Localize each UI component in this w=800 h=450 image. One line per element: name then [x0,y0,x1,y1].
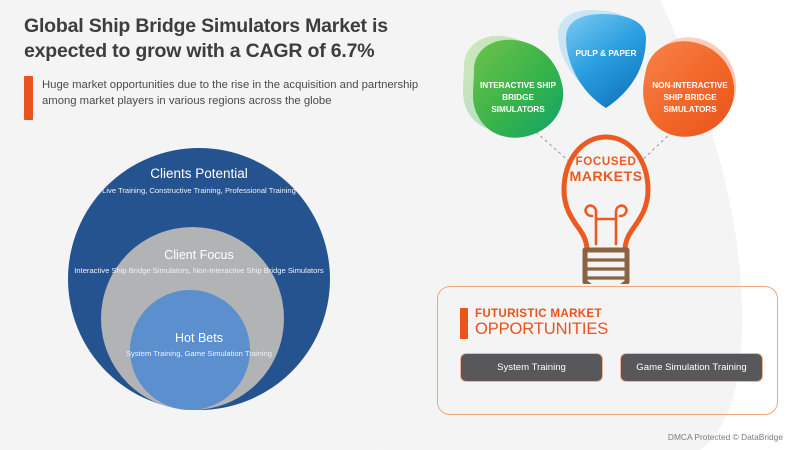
circle-items-inner: System Training, Game Simulation Trainin… [68,349,330,359]
petal-pulp-and-paper[interactable]: PULP & PAPER [566,14,646,108]
petal-label-blue: PULP & PAPER [575,48,636,58]
circle-items-middle: Interactive Ship Bridge Simulators, Non-… [68,266,330,276]
bulb-label-line2: MARKETS [570,169,643,185]
circle-label-hot-bets: Hot Bets System Training, Game Simulatio… [68,331,330,359]
circle-title-middle: Client Focus [68,248,330,262]
circle-label-client-focus: Client Focus Interactive Ship Bridge Sim… [68,248,330,276]
concentric-circles-diagram: Clients Potential Live Training, Constru… [68,148,330,410]
panel-accent-bar-icon [460,308,468,339]
header: Global Ship Bridge Simulators Market is … [24,14,444,120]
footer-copyright: DMCA Protected © DataBridge [668,432,783,442]
panel-heading: FUTURISTIC MARKET OPPORTUNITIES [460,308,777,339]
petals-svg: INTERACTIVE SHIP BRIDGE SIMULATORS PULP … [440,4,770,284]
bulb-label-line1: FOCUSED [576,155,637,168]
page-title: Global Ship Bridge Simulators Market is … [24,14,444,65]
accent-bar-icon [24,76,33,120]
petal-label-orange-line1: NON-INTERACTIVE [652,81,728,90]
panel-title-line1: FUTURISTIC MARKET [475,308,608,320]
panel-button-row: System Training Game Simulation Training [460,353,777,382]
petal-label-orange-line3: SIMULATORS [663,105,717,114]
panel-title-group: FUTURISTIC MARKET OPPORTUNITIES [475,308,608,338]
lightbulb-icon: FOCUSED MARKETS [564,137,648,284]
infographic-root: Global Ship Bridge Simulators Market is … [0,0,800,450]
subtitle-block: Huge market opportunities due to the ris… [24,76,444,120]
panel-title-line2: OPPORTUNITIES [475,321,608,338]
petal-label-orange-line2: SHIP BRIDGE [663,93,717,102]
circle-title-inner: Hot Bets [68,331,330,345]
subtitle-text: Huge market opportunities due to the ris… [42,76,444,120]
circle-title-outer: Clients Potential [68,166,330,182]
petal-label-green-line1: INTERACTIVE SHIP [480,81,557,90]
petal-label-green-line2: BRIDGE [502,93,534,102]
circle-items-outer: Live Training, Constructive Training, Pr… [68,186,330,196]
opportunity-button-system-training[interactable]: System Training [460,353,603,382]
focused-markets-diagram: INTERACTIVE SHIP BRIDGE SIMULATORS PULP … [440,4,770,284]
petal-interactive-ship-bridge-simulators[interactable]: INTERACTIVE SHIP BRIDGE SIMULATORS [473,40,563,138]
futuristic-market-opportunities-panel: FUTURISTIC MARKET OPPORTUNITIES System T… [437,286,778,415]
opportunity-button-game-simulation-training[interactable]: Game Simulation Training [620,353,763,382]
petal-label-green-line3: SIMULATORS [491,105,545,114]
circle-label-clients-potential: Clients Potential Live Training, Constru… [68,166,330,196]
